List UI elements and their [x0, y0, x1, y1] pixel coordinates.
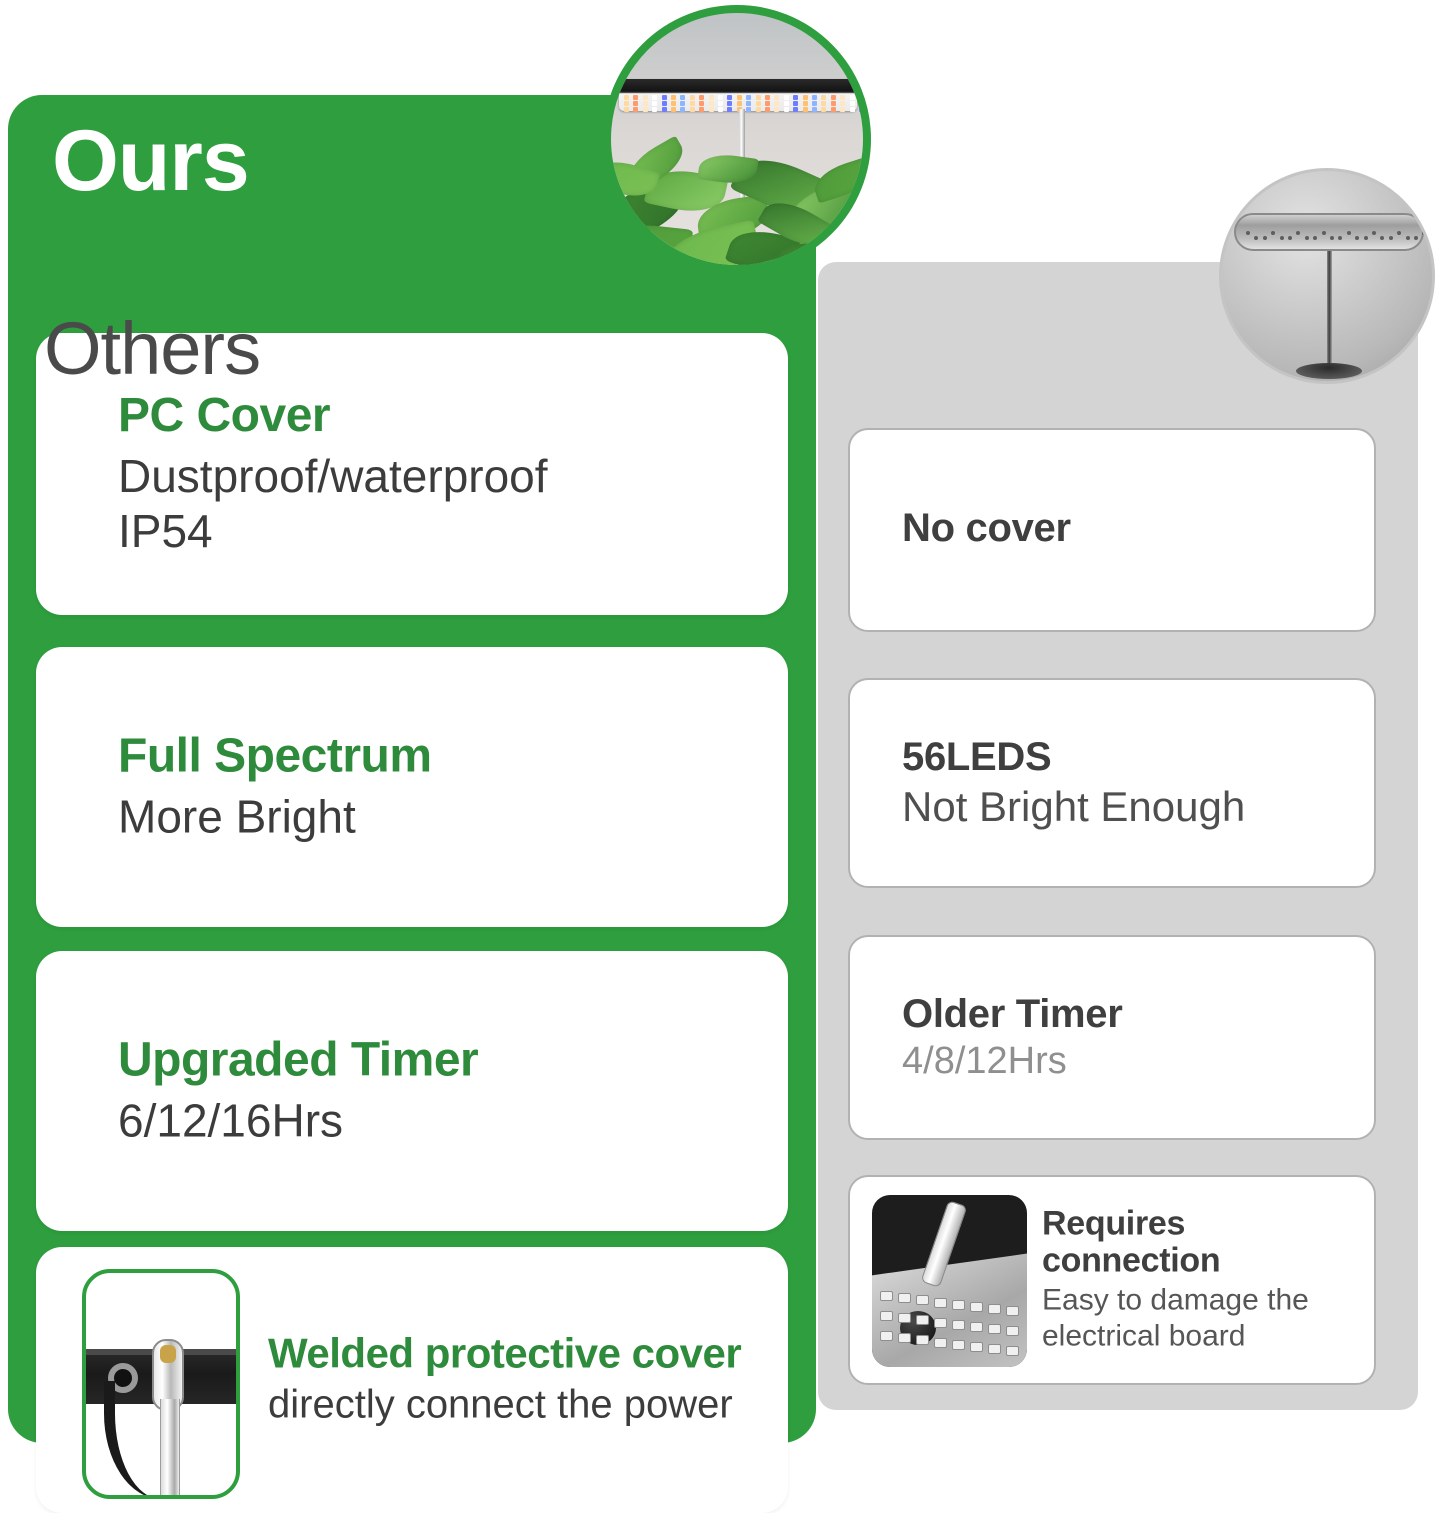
plain-led-dot-icon	[1389, 236, 1393, 240]
led-diode-icon	[831, 101, 836, 106]
led-diode-icon	[850, 95, 855, 100]
led-diode-icon	[727, 107, 732, 112]
led-diode-icon	[803, 95, 808, 100]
board-led-icon	[880, 1331, 893, 1341]
plain-led-dot-icon	[1422, 231, 1426, 235]
led-diode-icon	[680, 95, 685, 100]
ours-card-subtext: Dustproof/waterproofIP54	[118, 449, 760, 559]
others-feature-card: 56LEDS Not Bright Enough	[848, 678, 1376, 888]
plain-led-dot-icon	[1397, 231, 1401, 235]
others-card-subtext: 4/8/12Hrs	[902, 1040, 1354, 1084]
led-diode-icon	[671, 95, 676, 100]
led-diode-icon	[850, 107, 855, 112]
led-diode-icon	[727, 95, 732, 100]
led-diode-icon	[737, 95, 742, 100]
ours-product-photo	[603, 5, 871, 273]
board-led-icon	[916, 1335, 929, 1345]
board-led-icon	[916, 1315, 929, 1325]
plain-led-dot-icon	[1330, 236, 1334, 240]
others-panel: No cover 56LEDS Not Bright Enough Older …	[818, 262, 1418, 1410]
board-led-icon	[1006, 1326, 1019, 1336]
plain-led-dot-icon	[1406, 236, 1410, 240]
others-card-subtext: Not Bright Enough	[902, 783, 1354, 831]
welded-cover-thumbnail-image	[82, 1269, 240, 1499]
ours-panel: PC Cover Dustproof/waterproofIP54 Full S…	[8, 95, 816, 1443]
led-diode-icon	[643, 101, 648, 106]
led-diode-icon	[709, 95, 714, 100]
led-diode-icon	[756, 107, 761, 112]
led-diode-icon	[727, 101, 732, 106]
led-diode-icon	[821, 107, 826, 112]
plain-lamp-base-icon	[1296, 363, 1362, 379]
led-diode-icon	[850, 101, 855, 106]
led-diode-icon	[812, 95, 817, 100]
led-diode-icon	[662, 101, 667, 106]
others-card-heading: 56LEDS	[902, 735, 1354, 779]
led-diode-icon	[624, 107, 629, 112]
ours-feature-card: Upgraded Timer 6/12/16Hrs	[36, 951, 788, 1231]
board-led-icon	[934, 1318, 947, 1328]
led-diode-icon	[831, 95, 836, 100]
ours-card-subtext: 6/12/16Hrs	[118, 1093, 760, 1148]
board-led-icon	[934, 1298, 947, 1308]
led-diode-icon	[699, 107, 704, 112]
led-diode-icon	[633, 107, 638, 112]
ours-card-heading: Full Spectrum	[118, 730, 760, 784]
led-diode-icon	[633, 95, 638, 100]
board-led-icon	[988, 1324, 1001, 1334]
led-diode-icon	[652, 95, 657, 100]
plain-led-dot-icon	[1288, 236, 1292, 240]
led-diode-icon	[624, 95, 629, 100]
led-diode-icon	[840, 101, 845, 106]
led-diode-icon	[812, 107, 817, 112]
led-diode-icon	[774, 101, 779, 106]
led-diode-icon	[840, 95, 845, 100]
others-card-heading: Older Timer	[902, 992, 1354, 1036]
plain-led-bar-icon	[1234, 213, 1424, 251]
led-diode-icon	[840, 107, 845, 112]
led-diode-icon	[662, 107, 667, 112]
led-diode-icon	[803, 107, 808, 112]
led-diode-icon	[812, 101, 817, 106]
board-led-icon	[880, 1291, 893, 1301]
ours-card-subtext: directly connect the power	[268, 1382, 770, 1429]
led-diode-icon	[643, 95, 648, 100]
plain-led-dot-icon	[1414, 236, 1418, 240]
board-led-icon	[898, 1333, 911, 1343]
led-diode-icon	[793, 107, 798, 112]
led-diode-icon	[756, 101, 761, 106]
plain-led-dot-icon	[1355, 236, 1359, 240]
led-diode-icon	[709, 107, 714, 112]
plain-led-dot-icon	[1296, 231, 1300, 235]
board-led-icon	[880, 1311, 893, 1321]
board-led-icon	[970, 1302, 983, 1312]
led-diode-icon	[746, 107, 751, 112]
board-led-icon	[952, 1320, 965, 1330]
others-feature-card: No cover	[848, 428, 1376, 632]
board-led-icon	[970, 1342, 983, 1352]
led-diode-icon	[756, 95, 761, 100]
board-led-icon	[952, 1340, 965, 1350]
board-led-icon	[934, 1338, 947, 1348]
led-diode-icon	[765, 107, 770, 112]
board-led-icon	[898, 1293, 911, 1303]
led-diode-icon	[784, 101, 789, 106]
led-diode-icon	[690, 95, 695, 100]
led-diode-icon	[831, 107, 836, 112]
others-product-photo	[1219, 168, 1435, 384]
led-diode-icon	[671, 107, 676, 112]
plain-led-dot-icon	[1246, 231, 1250, 235]
board-led-icon	[1006, 1346, 1019, 1356]
plain-led-dot-icon	[1271, 231, 1275, 235]
led-diode-icon	[680, 107, 685, 112]
plain-led-dot-icon	[1254, 236, 1258, 240]
led-diode-icon	[633, 101, 638, 106]
led-diode-icon	[624, 101, 629, 106]
plain-led-dot-icon	[1338, 236, 1342, 240]
plain-led-dot-icon	[1372, 231, 1376, 235]
led-diode-icon	[765, 95, 770, 100]
led-diode-icon	[793, 101, 798, 106]
board-led-icon	[988, 1304, 1001, 1314]
plain-led-dot-icon	[1322, 231, 1326, 235]
led-diode-icon	[671, 101, 676, 106]
ours-feature-card: Welded protective cover directly connect…	[36, 1247, 788, 1513]
others-card-subtext: Easy to damage the electrical board	[1042, 1283, 1360, 1355]
led-diode-icon	[774, 107, 779, 112]
led-diode-icon	[784, 107, 789, 112]
plain-lamp-stem-icon	[1327, 251, 1332, 373]
others-panel-title: Others	[44, 312, 260, 386]
led-diode-icon	[718, 95, 723, 100]
led-diode-icon	[718, 107, 723, 112]
led-diode-icon	[652, 107, 657, 112]
led-diode-icon	[793, 95, 798, 100]
led-diode-icon	[737, 101, 742, 106]
led-diode-icon	[859, 107, 864, 112]
others-feature-card: Older Timer 4/8/12Hrs	[848, 935, 1376, 1140]
ours-feature-card: Full Spectrum More Bright	[36, 647, 788, 927]
plain-led-dot-icon	[1313, 236, 1317, 240]
plain-led-dot-icon	[1263, 236, 1267, 240]
led-diode-icon	[652, 101, 657, 106]
led-diode-icon	[784, 95, 789, 100]
board-led-icon	[1006, 1306, 1019, 1316]
led-diode-icon	[859, 101, 864, 106]
plant-foliage	[603, 141, 871, 273]
plain-led-dot-icon	[1305, 236, 1309, 240]
board-led-icon	[988, 1344, 1001, 1354]
ours-card-heading: Welded protective cover	[268, 1331, 770, 1376]
led-diode-icon	[643, 107, 648, 112]
led-diode-icon	[690, 101, 695, 106]
plain-led-dot-icon	[1380, 236, 1384, 240]
board-led-icon	[952, 1300, 965, 1310]
led-diode-icon	[746, 95, 751, 100]
led-diode-icon	[709, 101, 714, 106]
led-diode-icon	[774, 95, 779, 100]
board-led-icon	[898, 1313, 911, 1323]
others-card-heading: Requires connection	[1042, 1205, 1360, 1278]
led-diode-icon	[699, 95, 704, 100]
ours-card-heading: Upgraded Timer	[118, 1034, 760, 1088]
led-diode-icon	[765, 101, 770, 106]
led-diode-icon	[690, 107, 695, 112]
led-diode-icon	[859, 95, 864, 100]
led-panel-bar-icon	[619, 79, 857, 111]
plain-led-dot-icon	[1347, 231, 1351, 235]
others-card-heading: No cover	[902, 506, 1354, 550]
led-diode-icon	[821, 95, 826, 100]
ours-panel-title: Ours	[52, 118, 249, 204]
others-feature-card: Requires connection Easy to damage the e…	[848, 1175, 1376, 1385]
ours-card-heading: PC Cover	[118, 389, 760, 443]
board-led-icon	[970, 1322, 983, 1332]
board-led-icon	[916, 1295, 929, 1305]
connector-board-thumbnail-image	[872, 1195, 1027, 1367]
led-diode-icon	[746, 101, 751, 106]
led-diode-icon	[718, 101, 723, 106]
ours-card-subtext: More Bright	[118, 789, 760, 844]
led-diode-icon	[699, 101, 704, 106]
led-diode-icon	[662, 95, 667, 100]
plain-led-dot-icon	[1364, 236, 1368, 240]
led-diode-icon	[803, 101, 808, 106]
led-diode-icon	[821, 101, 826, 106]
led-diode-icon	[680, 101, 685, 106]
plain-led-dot-icon	[1280, 236, 1284, 240]
